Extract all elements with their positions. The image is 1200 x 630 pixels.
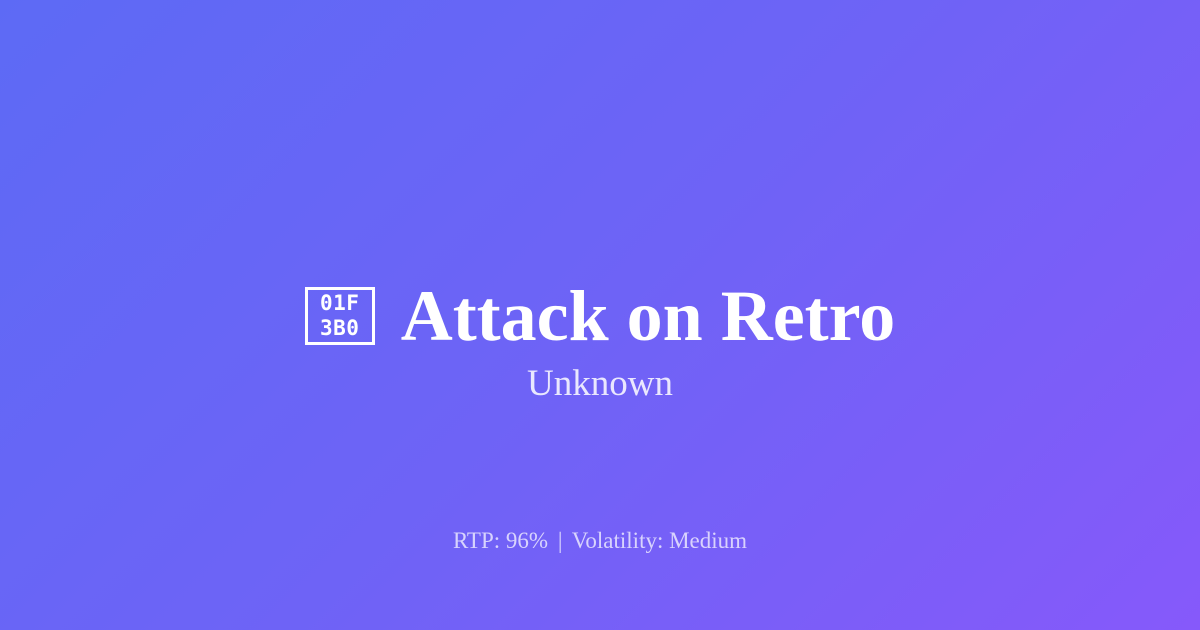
page-title: Attack on Retro — [401, 280, 896, 352]
tofu-codepoint-top: 01F — [320, 291, 359, 317]
og-share-card: 01F 3B0 Attack on Retro Unknown RTP: 96%… — [0, 0, 1200, 630]
rtp-label: RTP: — [453, 528, 500, 553]
volatility-label: Volatility: — [572, 528, 664, 553]
game-meta-footer: RTP: 96% | Volatility: Medium — [0, 527, 1200, 555]
tofu-codepoint-bottom: 3B0 — [320, 316, 359, 342]
volatility-value: Medium — [669, 528, 747, 553]
slot-machine-icon: 01F 3B0 — [305, 287, 375, 345]
meta-separator: | — [554, 528, 567, 553]
rtp-value: 96% — [506, 528, 548, 553]
provider-subtitle: Unknown — [0, 364, 1200, 405]
